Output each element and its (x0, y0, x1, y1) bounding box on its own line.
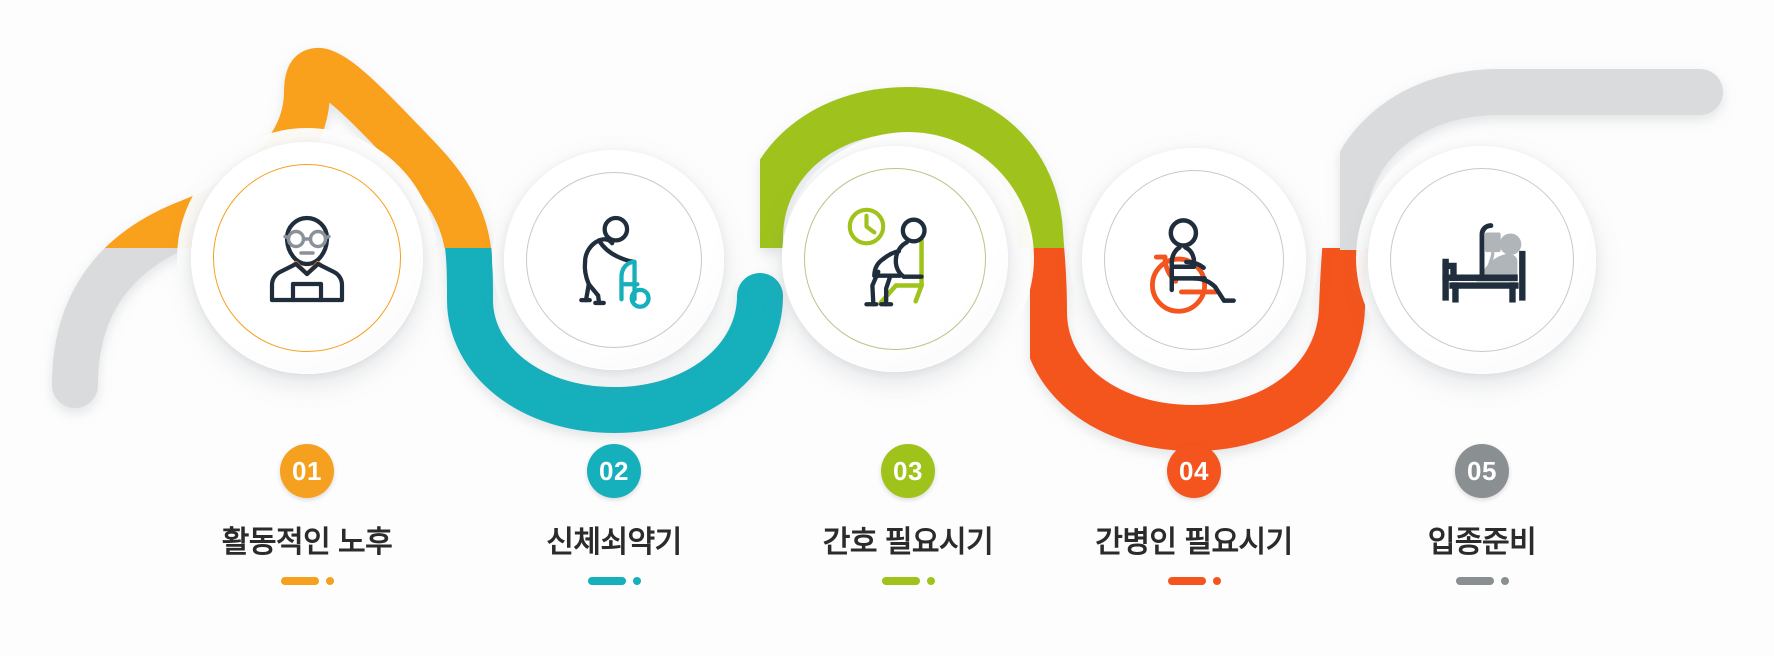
underline-dot (1213, 577, 1221, 585)
stage-label-04: 간병인 필요시기 (1044, 517, 1344, 561)
elderly-man-icon (247, 198, 367, 318)
stage-underline-02 (464, 577, 764, 585)
underline-bar (281, 577, 319, 585)
icon-container (782, 146, 1008, 372)
stage-badge-01: 01 (280, 444, 334, 498)
hospital-bed-icon (1423, 201, 1541, 319)
stage-caption-03: 03 간호 필요시기 (758, 444, 1058, 585)
stage-label-03: 간호 필요시기 (758, 517, 1058, 561)
walker-person-icon (558, 204, 670, 316)
stage-underline-01 (157, 577, 457, 585)
stage-caption-01: 01 활동적인 노후 (157, 444, 457, 585)
stage-node-04[interactable] (1082, 148, 1306, 372)
underline-bar (882, 577, 920, 585)
underline-dot (927, 577, 935, 585)
stage-node-02[interactable] (504, 150, 724, 370)
stage-label-02: 신체쇠약기 (464, 517, 764, 561)
underline-dot (633, 577, 641, 585)
stage-underline-05 (1332, 577, 1632, 585)
stage-caption-04: 04 간병인 필요시기 (1044, 444, 1344, 585)
stage-badge-04: 04 (1167, 444, 1221, 498)
icon-container (1082, 148, 1306, 372)
wheelchair-person-icon (1136, 202, 1252, 318)
infographic-canvas: 01 활동적인 노후 02 신체쇠약기 03 간호 필요시기 04 간병인 필요… (0, 0, 1774, 656)
icon-container (1368, 146, 1596, 374)
seated-person-clock-icon (836, 200, 954, 318)
stage-node-05[interactable] (1368, 146, 1596, 374)
stage-badge-03: 03 (881, 444, 935, 498)
stage-underline-04 (1044, 577, 1344, 585)
underline-dot (1501, 577, 1509, 585)
underline-dot (326, 577, 334, 585)
stage-node-01[interactable] (191, 142, 423, 374)
icon-container (191, 142, 423, 374)
stage-caption-05: 05 입종준비 (1332, 444, 1632, 585)
stage-node-03[interactable] (782, 146, 1008, 372)
stage-caption-02: 02 신체쇠약기 (464, 444, 764, 585)
stage-label-01: 활동적인 노후 (157, 517, 457, 561)
icon-container (504, 150, 724, 370)
stage-badge-05: 05 (1455, 444, 1509, 498)
stage-label-05: 입종준비 (1332, 517, 1632, 561)
underline-bar (588, 577, 626, 585)
underline-bar (1456, 577, 1494, 585)
underline-bar (1168, 577, 1206, 585)
stage-underline-03 (758, 577, 1058, 585)
stage-badge-02: 02 (587, 444, 641, 498)
